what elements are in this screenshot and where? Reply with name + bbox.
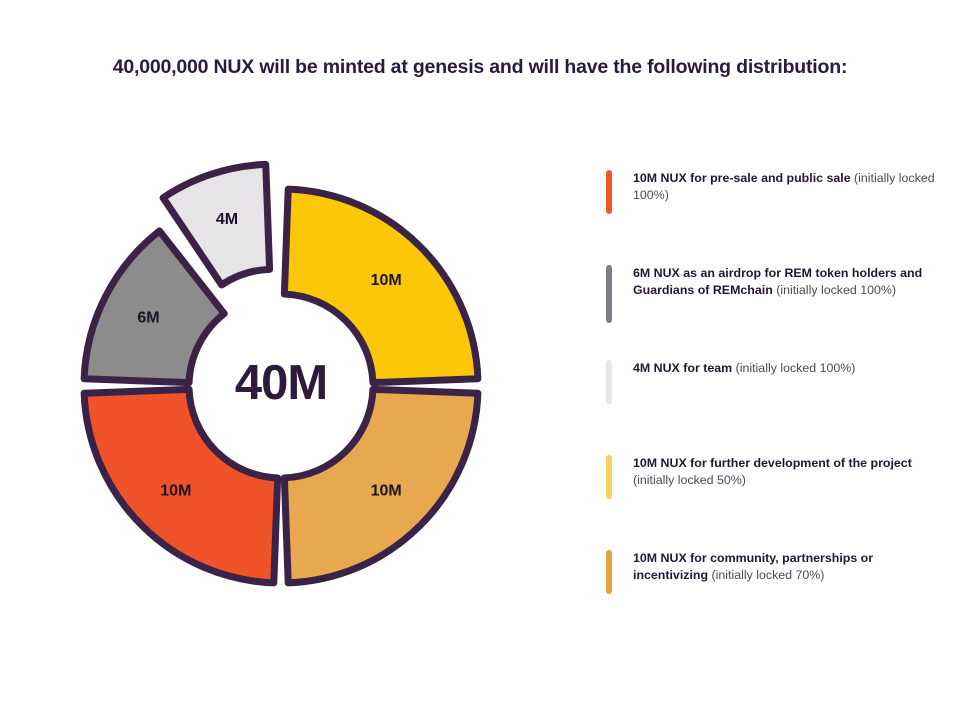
donut-slice-label: 10M: [371, 272, 402, 289]
legend-item-text: 10M NUX for pre-sale and public sale (in…: [633, 168, 936, 203]
page-title: 40,000,000 NUX will be minted at genesis…: [0, 56, 960, 79]
legend-color-swatch: [606, 550, 612, 594]
infographic-page: 40,000,000 NUX will be minted at genesis…: [0, 0, 960, 720]
legend-item-title: 10M NUX for further development of the p…: [633, 456, 912, 470]
legend: 10M NUX for pre-sale and public sale (in…: [606, 168, 936, 643]
donut-slice-label: 10M: [160, 482, 191, 499]
legend-item-title: 10M NUX for pre-sale and public sale: [633, 171, 854, 185]
legend-color-swatch: [606, 170, 612, 214]
legend-item-text: 10M NUX for further development of the p…: [633, 453, 936, 488]
donut-chart: 10M6M4M10M10M 40M: [55, 150, 535, 620]
legend-color-swatch: [606, 265, 612, 323]
legend-item-title: 4M NUX for team: [633, 361, 736, 375]
legend-item[interactable]: 10M NUX for community, partnerships or i…: [606, 548, 936, 643]
legend-item[interactable]: 10M NUX for further development of the p…: [606, 453, 936, 548]
legend-item[interactable]: 6M NUX as an airdrop for REM token holde…: [606, 263, 936, 358]
legend-item-text: 4M NUX for team (initially locked 100%): [633, 358, 855, 377]
legend-color-swatch: [606, 455, 612, 499]
legend-item[interactable]: 4M NUX for team (initially locked 100%): [606, 358, 936, 453]
legend-item-text: 6M NUX as an airdrop for REM token holde…: [633, 263, 936, 298]
legend-item-note: (initially locked 50%): [633, 473, 746, 487]
legend-item-note: (initially locked 100%): [736, 361, 856, 375]
donut-slice-label: 10M: [371, 482, 402, 499]
donut-slice-label: 6M: [137, 310, 159, 327]
legend-item[interactable]: 10M NUX for pre-sale and public sale (in…: [606, 168, 936, 263]
donut-center-total: 40M: [235, 356, 327, 410]
legend-item-note: (initially locked 70%): [711, 568, 824, 582]
legend-item-note: (initially locked 100%): [776, 283, 896, 297]
legend-item-text: 10M NUX for community, partnerships or i…: [633, 548, 936, 583]
donut-chart-svg: 10M6M4M10M10M 40M: [55, 150, 535, 620]
legend-color-swatch: [606, 360, 612, 404]
donut-slice-label: 4M: [216, 211, 238, 228]
